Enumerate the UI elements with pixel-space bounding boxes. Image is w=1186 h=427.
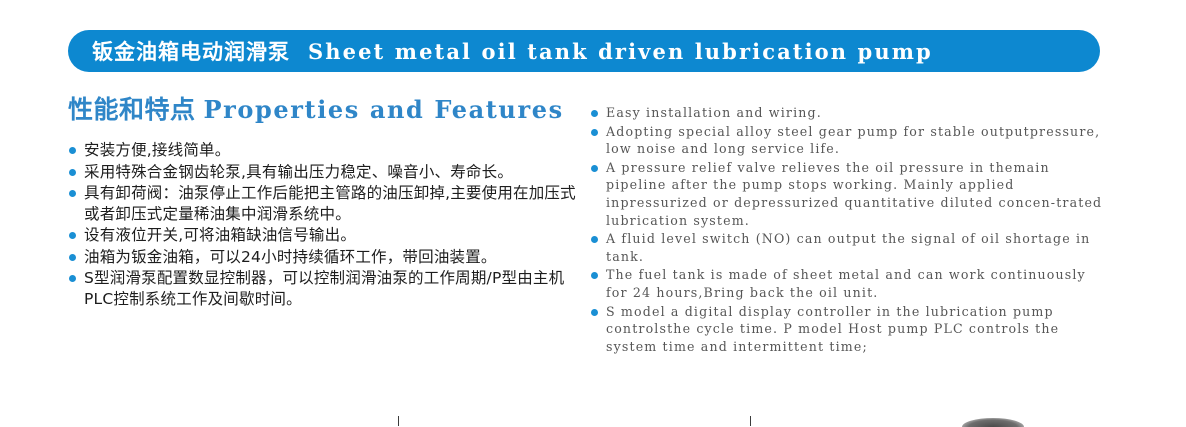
list-item: A pressure relief valve relieves the oil… [590,159,1110,229]
bottom-tick-mark-left [398,416,399,426]
list-item: S model a digital display controller in … [590,303,1110,356]
section-heading-chinese: 性能和特点 [68,95,196,124]
english-feature-list: Easy installation and wiring. Adopting s… [590,104,1110,355]
list-item: Easy installation and wiring. [590,104,1110,122]
list-item: 安装方便,接线简单。 [68,140,580,161]
bottom-tick-mark-right [750,416,751,426]
section-heading: 性能和特点Properties and Features [68,90,580,126]
list-item: A fluid level switch (NO) can output the… [590,230,1110,265]
list-item: Adopting special alloy steel gear pump f… [590,123,1110,158]
chinese-features-column: 性能和特点Properties and Features 安装方便,接线简单。 … [68,90,580,310]
bottom-product-image-edge [962,418,1024,427]
list-item: S型润滑泵配置数显控制器，可以控制润滑油泵的工作周期/P型由主机PLC控制系统工… [68,268,580,309]
product-title-chinese: 钣金油箱电动润滑泵 [92,36,290,66]
list-item: 采用特殊合金钢齿轮泵,具有输出压力稳定、噪音小、寿命长。 [68,162,580,183]
list-item: 具有卸荷阀：油泵停止工作后能把主管路的油压卸掉,主要使用在加压式或者卸压式定量稀… [68,183,580,224]
chinese-feature-list: 安装方便,接线简单。 采用特殊合金钢齿轮泵,具有输出压力稳定、噪音小、寿命长。 … [68,140,580,309]
section-heading-english: Properties and Features [204,95,564,124]
product-title-banner: 钣金油箱电动润滑泵 Sheet metal oil tank driven lu… [68,30,1100,72]
list-item: 设有液位开关,可将油箱缺油信号输出。 [68,225,580,246]
product-title-english: Sheet metal oil tank driven lubrication … [308,39,933,64]
list-item: The fuel tank is made of sheet metal and… [590,266,1110,301]
english-features-column: Easy installation and wiring. Adopting s… [590,104,1110,356]
list-item: 油箱为钣金油箱，可以24小时持续循环工作，带回油装置。 [68,247,580,268]
